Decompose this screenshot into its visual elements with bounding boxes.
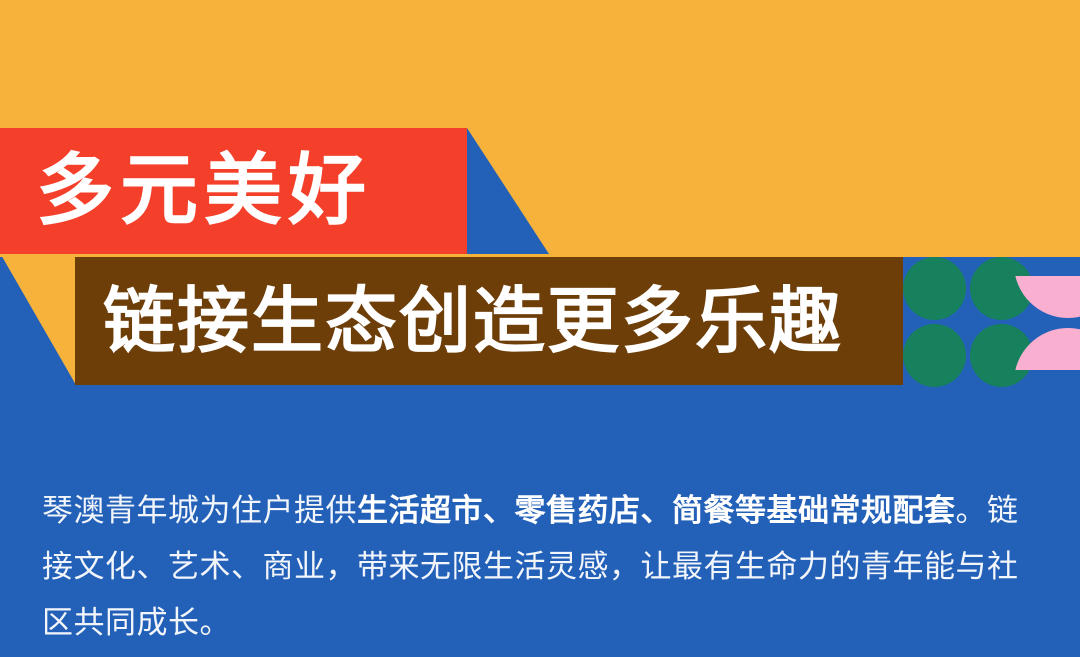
- subheadline-text: 链接生态创造更多乐趣: [75, 285, 843, 357]
- body-segment-0: 琴澳青年城为住户提供: [42, 493, 357, 529]
- body-paragraph: 琴澳青年城为住户提供生活超市、零售药店、简餐等基础常规配套。链接文化、艺术、商业…: [42, 483, 1042, 651]
- circle-icon: [903, 324, 966, 387]
- headline-text: 多元美好: [0, 152, 372, 230]
- petal-arc-bottom: [1014, 328, 1080, 370]
- promo-poster: 多元美好 链接生态创造更多乐趣 琴澳青年城为住户提供生活超市、零售药店、简餐等基…: [0, 0, 1080, 657]
- headline-banner: 多元美好: [0, 128, 467, 254]
- circle-icon: [903, 257, 966, 320]
- body-segment-1: 生活超市、零售药店、简餐等基础常规配套: [357, 493, 956, 529]
- petal-arc-top: [1014, 276, 1080, 318]
- subheadline-banner: 链接生态创造更多乐趣: [75, 257, 903, 385]
- pink-petal-icon: [1010, 276, 1080, 370]
